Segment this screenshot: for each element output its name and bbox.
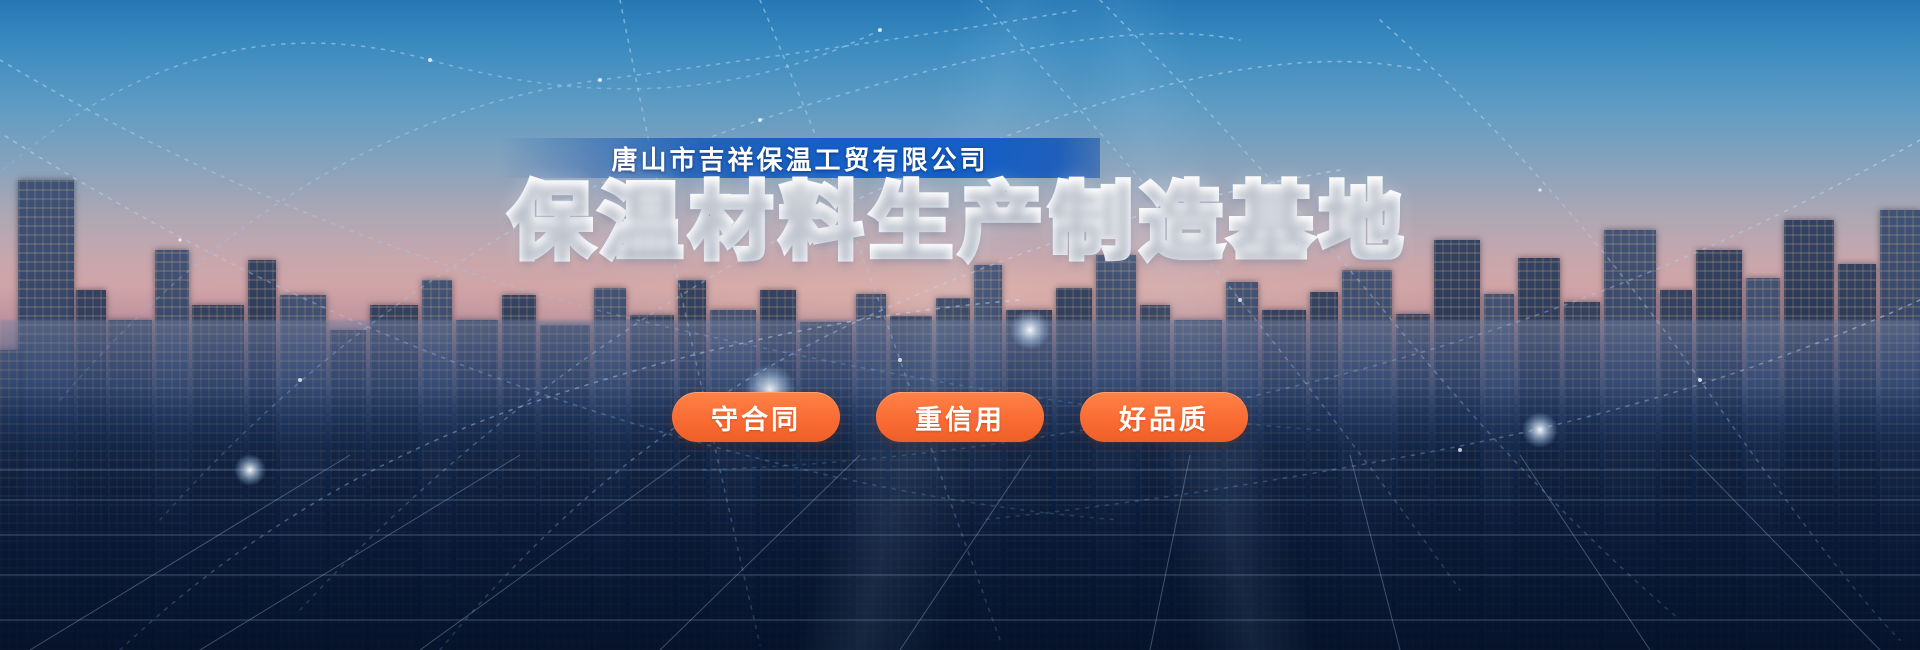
headline: 保温材料生产制造基地 (0, 178, 1920, 268)
feature-pill-group: 守合同 重信用 好品质 (0, 392, 1920, 442)
banner-content: 唐山市吉祥保温工贸有限公司 保温材料生产制造基地 守合同 重信用 好品质 (0, 0, 1920, 650)
company-name: 唐山市吉祥保温工贸有限公司 (611, 140, 988, 177)
company-name-bar: 唐山市吉祥保温工贸有限公司 (500, 138, 1100, 178)
feature-pill-2[interactable]: 重信用 (876, 392, 1044, 442)
feature-pill-1-label: 守合同 (711, 398, 801, 437)
hero-banner: 唐山市吉祥保温工贸有限公司 保温材料生产制造基地 守合同 重信用 好品质 (0, 0, 1920, 650)
feature-pill-1[interactable]: 守合同 (672, 392, 840, 442)
feature-pill-3-label: 好品质 (1119, 398, 1209, 437)
feature-pill-2-label: 重信用 (915, 398, 1005, 437)
headline-text: 保温材料生产制造基地 (510, 177, 1410, 268)
feature-pill-3[interactable]: 好品质 (1080, 392, 1248, 442)
